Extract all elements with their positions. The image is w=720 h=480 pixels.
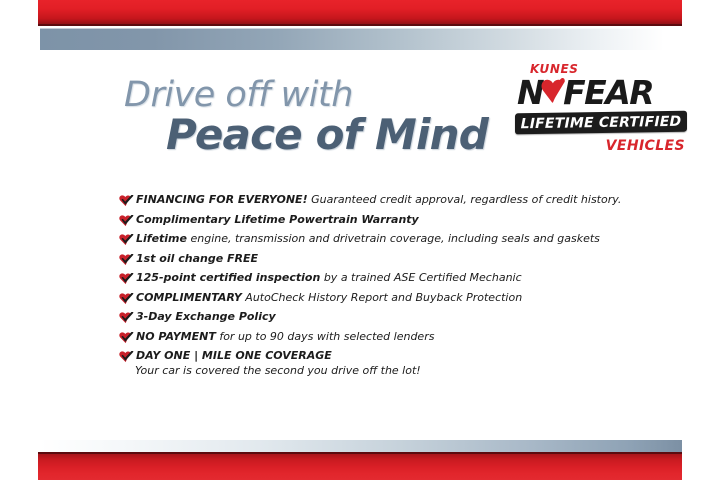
headline: Drive off with Peace of Mind [124,76,488,158]
bottom-red-accent-bar [38,452,682,480]
benefit-item-emphasis: COMPLIMENTARY [136,291,242,304]
check-heart-bullet-icon [118,293,135,306]
check-heart-bullet-icon [118,351,135,364]
benefit-item-text: FINANCING FOR EVERYONE! Guaranteed credi… [135,193,621,207]
kunes-no-fear-logo: KUNES N FEAR LIFETIME CERTIFIED VEHICLES [515,62,687,162]
top-red-accent-bar [38,0,682,26]
benefit-item-subtext: Your car is covered the second you drive… [135,363,421,378]
check-heart-bullet-icon [118,215,135,228]
logo-lifetime-certified-banner: LIFETIME CERTIFIED [515,111,687,135]
check-heart-bullet-icon [118,332,135,345]
benefit-item-text: Lifetime engine, transmission and drivet… [135,232,600,246]
benefit-item-emphasis: 3-Day Exchange Policy [136,310,276,323]
benefit-item: 125-point certified inspection by a trai… [118,271,638,286]
benefits-list: FINANCING FOR EVERYONE! Guaranteed credi… [118,193,638,383]
check-heart-bullet-icon [118,234,135,247]
logo-word-fear: FEAR [563,76,653,109]
benefit-item-text: Complimentary Lifetime Powertrain Warran… [135,213,419,227]
benefit-item: 3-Day Exchange Policy [118,310,638,325]
benefit-item: Lifetime engine, transmission and drivet… [118,232,638,247]
benefit-item: COMPLIMENTARY AutoCheck History Report a… [118,291,638,306]
benefit-item-emphasis: NO PAYMENT [136,330,216,343]
logo-no-fear-wordmark: N FEAR [517,76,653,109]
logo-banner-label: LIFETIME CERTIFIED [521,113,682,132]
benefit-item-emphasis: Lifetime [136,232,187,245]
benefit-item-text: 1st oil change FREE [135,252,258,266]
check-heart-bullet-icon [118,254,135,267]
top-gray-accent-bar [40,28,664,50]
headline-line-2: Peace of Mind [166,112,488,158]
benefit-item-emphasis: FINANCING FOR EVERYONE! [136,193,308,206]
headline-line-1: Drive off with [124,76,488,114]
benefit-item: 1st oil change FREE [118,252,638,267]
benefit-item-emphasis: Complimentary Lifetime Powertrain Warran… [136,213,419,226]
benefit-item-text: DAY ONE | MILE ONE COVERAGE [135,349,421,363]
check-heart-bullet-icon [118,195,135,208]
benefit-item-text: COMPLIMENTARY AutoCheck History Report a… [135,291,522,305]
benefit-item-emphasis: 125-point certified inspection [136,271,320,284]
red-check-heart-icon [541,78,565,108]
benefit-item-text: 3-Day Exchange Policy [135,310,276,324]
benefit-item-text: NO PAYMENT for up to 90 days with select… [135,330,434,344]
check-heart-bullet-icon [118,273,135,286]
benefit-item-emphasis: 1st oil change FREE [136,252,258,265]
benefit-item-text: 125-point certified inspection by a trai… [135,271,522,285]
benefit-item-emphasis: DAY ONE | MILE ONE COVERAGE [136,349,332,362]
benefit-item: Complimentary Lifetime Powertrain Warran… [118,213,638,228]
benefit-item: NO PAYMENT for up to 90 days with select… [118,330,638,345]
logo-vehicles-text: VEHICLES [606,138,685,154]
check-heart-bullet-icon [118,312,135,325]
benefit-item: DAY ONE | MILE ONE COVERAGEYour car is c… [118,349,638,378]
promo-graphic: Drive off with Peace of Mind KUNES N FEA… [0,0,720,480]
benefit-item: FINANCING FOR EVERYONE! Guaranteed credi… [118,193,638,208]
